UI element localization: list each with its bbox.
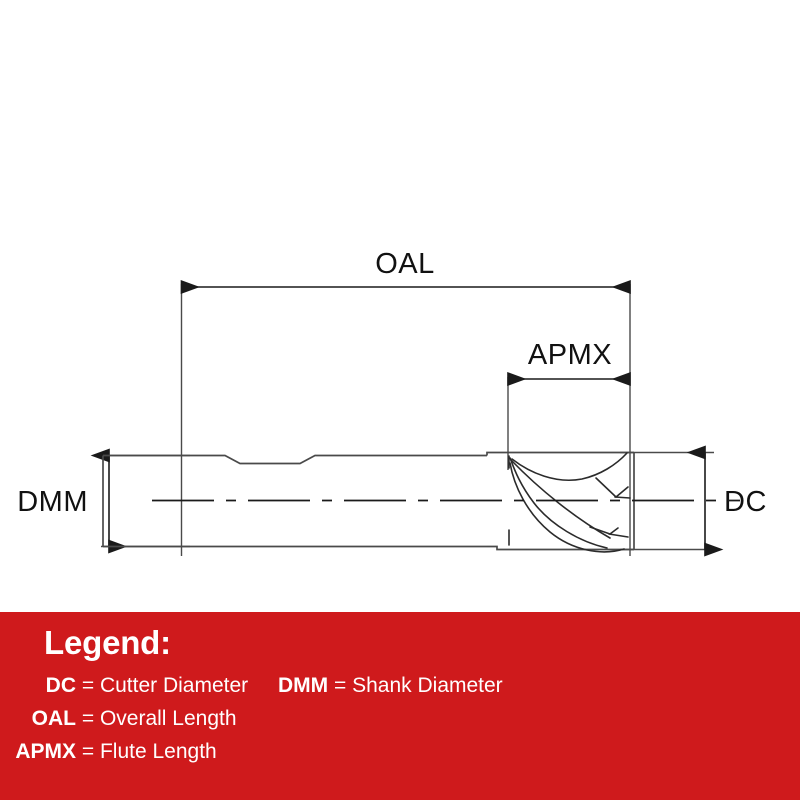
cutter-head-bottom-edge (487, 547, 634, 550)
end-mill-drawing-svg: OAL APMX DMM DC (0, 0, 800, 612)
legend-entry-apmx: APMX = Flute Length (14, 740, 217, 764)
legend-entry-dc: DC = Cutter Diameter (14, 674, 248, 698)
legend-row: APMX = Flute Length (0, 740, 800, 773)
flute-geometry (509, 453, 630, 552)
dimension-apmx: APMX (508, 339, 630, 379)
dimension-dmm: DMM (17, 456, 109, 547)
cutting-edge-tick-lower (609, 534, 628, 537)
legend-definition-oal: Overall Length (100, 707, 237, 730)
legend-title: Legend: (44, 624, 171, 662)
legend-bar: Legend: DC = Cutter Diameter DMM = Shank… (0, 612, 800, 800)
cutting-edge-chevron-lower (590, 527, 618, 534)
legend-separator-dmm: = (334, 674, 346, 697)
legend-row: DC = Cutter Diameter DMM = Shank Diamete… (0, 674, 800, 707)
legend-abbr-apmx: APMX (14, 740, 76, 764)
legend-separator-dc: = (82, 674, 94, 697)
legend-definition-apmx: Flute Length (100, 740, 217, 763)
legend-abbr-oal: OAL (14, 707, 76, 731)
end-mill-diagram-page: OAL APMX DMM DC (0, 0, 800, 800)
legend-row: OAL = Overall Length (0, 707, 800, 740)
legend-entries: DC = Cutter Diameter DMM = Shank Diamete… (0, 674, 800, 773)
legend-abbr-dmm: DMM (278, 674, 328, 697)
cutting-edge-tick-upper (615, 497, 630, 498)
extension-lines (101, 284, 714, 556)
legend-abbr-dc: DC (14, 674, 76, 698)
legend-definition-dmm: Shank Diameter (352, 674, 503, 697)
technical-drawing-area: OAL APMX DMM DC (0, 0, 800, 612)
cutting-edge-chevron-upper (596, 478, 628, 497)
flute-helix-2 (512, 453, 627, 480)
shank-top-edge (103, 456, 487, 464)
dimension-oal: OAL (182, 248, 631, 287)
dimension-label-dmm: DMM (17, 486, 88, 518)
legend-separator-oal: = (82, 707, 94, 730)
cutter-head-top-edge (487, 453, 634, 456)
dimension-label-oal: OAL (375, 248, 435, 280)
legend-entry-dmm: DMM = Shank Diameter (278, 674, 503, 698)
legend-definition-dc: Cutter Diameter (100, 674, 248, 697)
dimension-label-dc: DC (724, 486, 767, 518)
legend-separator-apmx: = (82, 740, 94, 763)
dimension-label-apmx: APMX (528, 339, 612, 371)
legend-entry-oal: OAL = Overall Length (14, 707, 237, 731)
flute-edge-diagonal (511, 460, 610, 538)
